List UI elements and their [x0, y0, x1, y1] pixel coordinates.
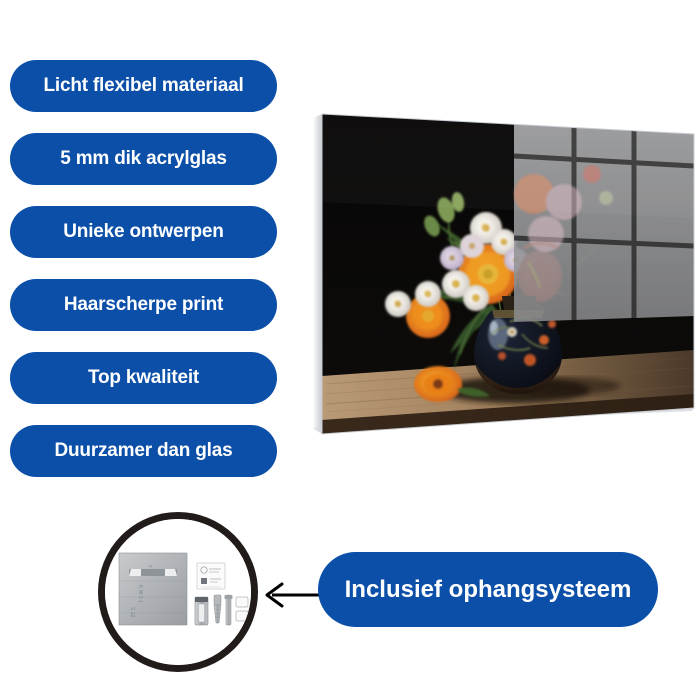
mounting-hardware-magnifier[interactable]: x K W 3 1 S 12 — [98, 512, 258, 672]
mounting-plate: x K W 3 1 S 12 — [119, 553, 187, 625]
product-infographic: Licht flexibel materiaal 5 mm dik acrylg… — [0, 0, 700, 700]
acrylic-edge-left — [313, 114, 322, 434]
feature-badge-licht-flexibel-materiaal[interactable]: Licht flexibel materiaal — [10, 60, 277, 112]
acrylic-glass-print-panel[interactable] — [306, 98, 700, 450]
artwork-gloss-sheen — [322, 114, 694, 218]
feature-badge-haarscherpe-print[interactable]: Haarscherpe print — [10, 279, 277, 331]
feature-badge-unieke-ontwerpen[interactable]: Unieke ontwerpen — [10, 206, 277, 258]
artwork-image — [306, 98, 700, 450]
feature-badge-label: 5 mm dik acrylglas — [60, 148, 226, 170]
svg-text:K W 3 1: K W 3 1 — [137, 585, 143, 603]
feature-badge-label: Licht flexibel materiaal — [43, 75, 243, 97]
feature-badge-top-kwaliteit[interactable]: Top kwaliteit — [10, 352, 277, 404]
artwork-vase-highlight — [488, 318, 508, 350]
svg-text:S 12: S 12 — [129, 607, 135, 618]
feature-badge-label: Duurzamer dan glas — [54, 440, 232, 462]
instruction-leaflet — [197, 563, 225, 589]
feature-badge-5-mm-dik-acrylglas[interactable]: 5 mm dik acrylglas — [10, 133, 277, 185]
feature-badge-label: Unieke ontwerpen — [63, 221, 223, 243]
mounting-hardware-illustration: x K W 3 1 S 12 — [105, 519, 251, 665]
feature-badge-label: Haarscherpe print — [64, 294, 223, 316]
wall-plug — [195, 597, 208, 625]
feature-badge-label: Top kwaliteit — [88, 367, 199, 389]
feature-badge-duurzamer-dan-glas[interactable]: Duurzamer dan glas — [10, 425, 277, 477]
callout-badge-inclusief-ophangsysteem[interactable]: Inclusief ophangsysteem — [318, 552, 658, 627]
artwork-canvas — [306, 98, 700, 450]
callout-badge-label: Inclusief ophangsysteem — [345, 576, 632, 604]
